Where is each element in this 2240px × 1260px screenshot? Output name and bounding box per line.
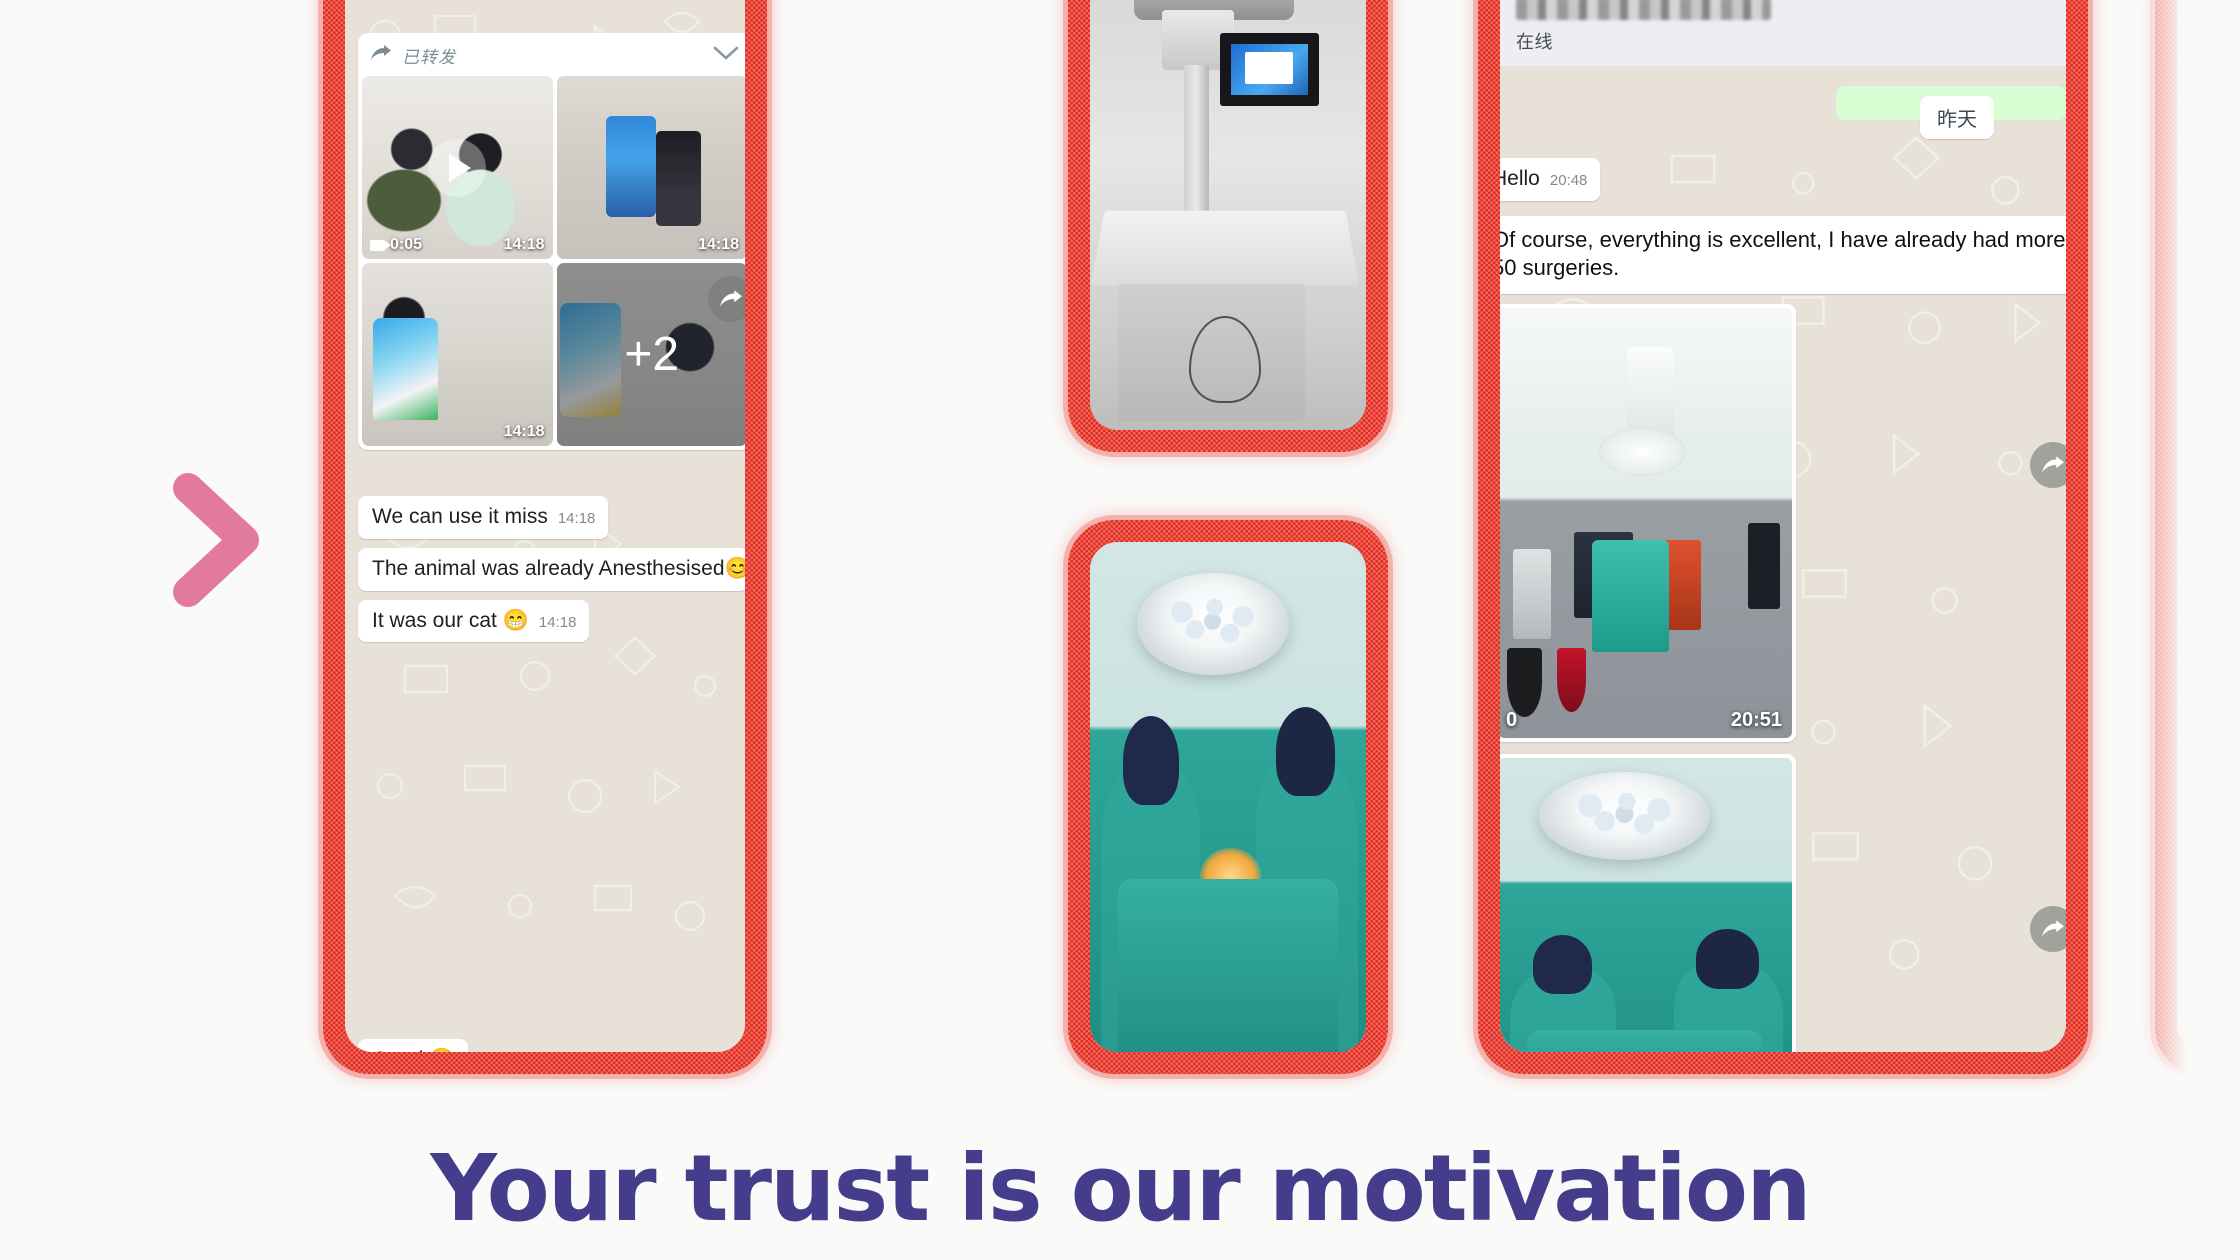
message-time: 14:18: [558, 510, 596, 527]
message-bubble[interactable]: It was our cat 😁 14:18: [358, 600, 589, 643]
photo-frame: [1090, 542, 1366, 1052]
play-icon[interactable]: [428, 139, 486, 197]
media-timestamp: 20:51: [1731, 709, 1782, 732]
forwarded-media-card[interactable]: 已转发 0:05 14:1: [358, 33, 745, 450]
photo-card-xray-room: [1068, 0, 1388, 452]
message-text: Hello: [1500, 167, 1540, 192]
phone-screen: 今天 已转发: [345, 0, 745, 1052]
message-text: Of course, everything is excellent, I ha…: [1500, 226, 2066, 282]
phone-card-chat-conversation: 在线 昨天 Hello 20:48 Of course, everything …: [1478, 0, 2088, 1074]
photo-surgery-team: [1090, 542, 1366, 1052]
photo-frame: [1090, 0, 1366, 430]
message-bubble-hello[interactable]: Hello 20:48: [1500, 158, 1600, 201]
message-bubble-surgeries[interactable]: Of course, everything is excellent, I ha…: [1500, 216, 2066, 294]
chevron-down-icon[interactable]: [713, 45, 739, 66]
video-duration: 0:05: [370, 236, 422, 254]
forwarded-header: 已转发: [358, 33, 745, 76]
message-time: 14:18: [539, 614, 577, 631]
photo-clinic-c: [362, 263, 553, 446]
message-text: The animal was already Anesthesised😊: [372, 557, 745, 582]
message-bubble[interactable]: We can use it miss 14:18: [358, 496, 608, 539]
phone-screen: 在线 昨天 Hello 20:48 Of course, everything …: [1500, 0, 2066, 1052]
message-list: We can use it miss 14:18 The animal was …: [358, 496, 745, 651]
photo-operating-theatre: 0 20:51: [1500, 308, 1792, 738]
media-timestamp: 14:18: [504, 423, 545, 441]
forwarded-label: 已转发: [402, 43, 456, 68]
message-text: It was our cat 😁: [372, 609, 529, 634]
slide-canvas: 今天 已转发: [0, 0, 2240, 1260]
photo-surgery-lamp: [1500, 758, 1792, 1052]
media-timestamp: 14:18: [698, 236, 739, 254]
edge-fade: [2100, 0, 2240, 1260]
photo-vet-xray-table: [1090, 0, 1366, 430]
photo-card-surgery: [1068, 520, 1388, 1074]
media-tile-video[interactable]: 0:05 14:18: [362, 76, 553, 259]
contact-name-redacted: [1516, 0, 1771, 20]
message-bubble[interactable]: The animal was already Anesthesised😊 14:…: [358, 548, 745, 591]
message-photo-surgery[interactable]: [1500, 754, 1796, 1052]
photo-clinic-b: [557, 76, 746, 259]
media-tile-image[interactable]: 14:18: [362, 263, 553, 446]
message-text: We can use it miss: [372, 505, 548, 530]
date-chip-yesterday: 昨天: [1920, 96, 1994, 139]
forward-arrow-icon: [370, 45, 392, 67]
message-text: Good 😁: [372, 1048, 455, 1052]
media-grid: 0:05 14:18 14:18 14:18 +2: [358, 76, 745, 450]
video-camera-icon: [370, 240, 385, 251]
media-tile-image[interactable]: 14:18: [557, 76, 746, 259]
chevron-right-icon[interactable]: [168, 470, 268, 610]
message-time: 20:48: [1550, 172, 1588, 189]
page-title: Your trust is our motivation: [0, 1135, 2240, 1242]
chat-header: 在线: [1500, 0, 2066, 66]
media-timestamp: 14:18: [504, 236, 545, 254]
media-timestamp-left: 0: [1506, 709, 1517, 732]
phone-card-chat-forwarded: 今天 已转发: [323, 0, 767, 1074]
message-photo-theatre[interactable]: 0 20:51: [1500, 304, 1796, 742]
online-status: 在线: [1516, 28, 2050, 54]
message-bubble-partial[interactable]: Good 😁: [358, 1039, 468, 1052]
